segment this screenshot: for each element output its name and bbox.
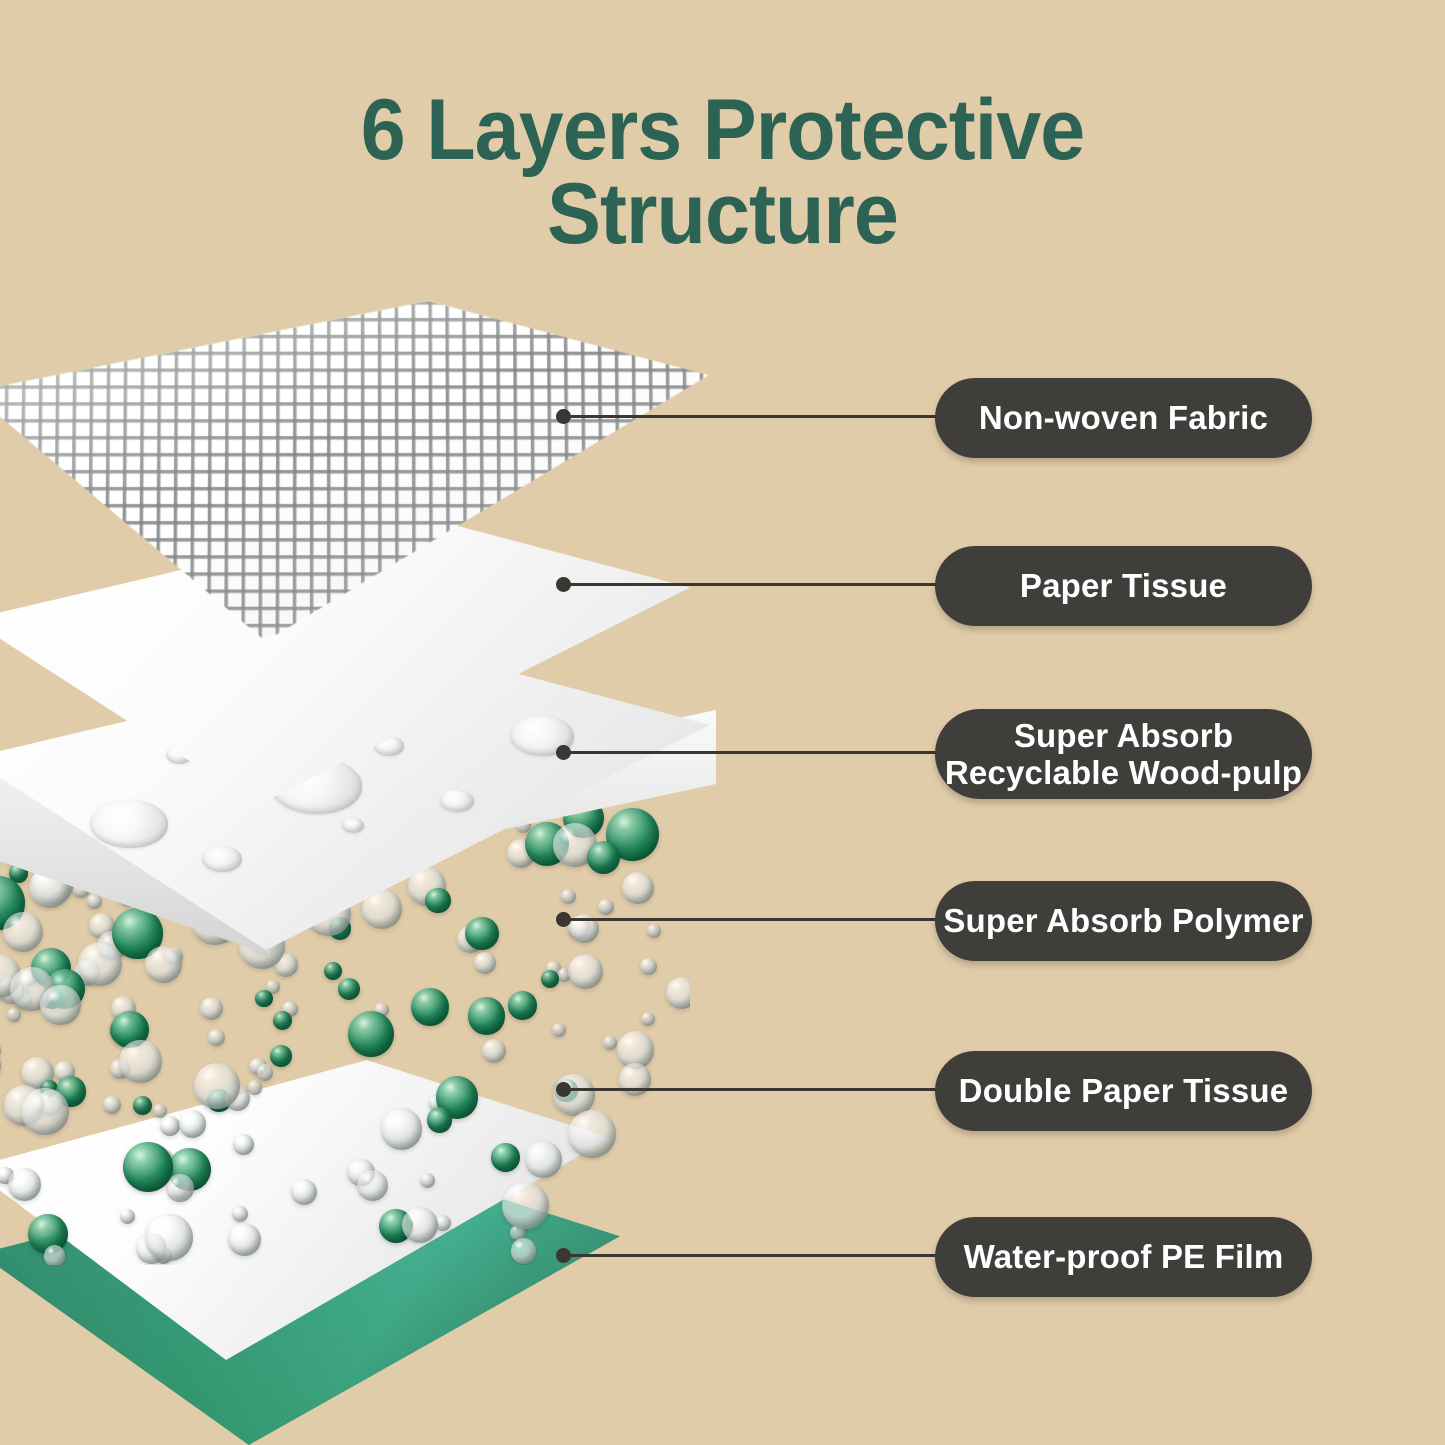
page-title-line-2: Structure: [43, 172, 1401, 256]
polymer-bead-clear: [561, 889, 576, 904]
leader-dot-super-absorb-polymer: [556, 912, 571, 927]
polymer-bead-green: [508, 991, 536, 1019]
polymer-bead-green: [491, 1143, 520, 1172]
polymer-bead-clear: [3, 912, 43, 952]
polymer-bead-green: [324, 962, 342, 980]
callout-label-super-absorb-recyclable-wood-pulp[interactable]: Super AbsorbRecyclable Wood-pulp: [935, 709, 1312, 799]
leader-line-super-absorb-polymer: [569, 918, 949, 921]
callout-label-text: Recyclable Wood-pulp: [945, 754, 1302, 791]
polymer-bead-green: [270, 1045, 292, 1067]
polymer-bead-clear: [153, 1104, 167, 1118]
polymer-bead-green: [338, 978, 360, 1000]
polymer-bead-green: [255, 990, 273, 1008]
polymer-bead-clear: [0, 1042, 1, 1059]
polymer-bead-clear: [357, 1170, 388, 1201]
polymer-bead-clear: [482, 1039, 506, 1063]
page-title: 6 Layers Protective Structure: [43, 88, 1401, 257]
polymer-bead-clear: [622, 872, 654, 904]
polymer-bead-clear: [291, 1179, 317, 1205]
polymer-bead-green: [541, 970, 559, 988]
polymer-bead-clear: [40, 985, 81, 1026]
polymer-bead-green: [411, 988, 449, 1026]
polymer-bead-clear: [603, 1036, 617, 1050]
polymer-bead-clear: [233, 1134, 254, 1155]
water-droplet: [342, 818, 364, 833]
polymer-bead-green: [348, 1011, 394, 1057]
callout-label-super-absorb-polymer[interactable]: Super Absorb Polymer: [935, 881, 1312, 961]
polymer-bead-clear: [194, 1063, 240, 1109]
callout-label-text: Non-woven Fabric: [979, 399, 1268, 436]
polymer-bead-clear: [511, 1238, 537, 1264]
callout-label-water-proof-pe-film[interactable]: Water-proof PE Film: [935, 1217, 1312, 1297]
polymer-bead-clear: [145, 1214, 193, 1262]
polymer-bead-clear: [21, 1088, 68, 1135]
polymer-bead-clear: [228, 1223, 261, 1256]
polymer-bead-clear: [474, 952, 496, 974]
polymer-bead-clear: [200, 997, 223, 1020]
polymer-bead-green: [273, 1011, 292, 1030]
leader-dot-paper-tissue: [556, 577, 571, 592]
polymer-bead-clear: [87, 894, 102, 909]
polymer-bead-green: [133, 1096, 152, 1115]
polymer-bead-clear: [381, 1108, 422, 1149]
polymer-bead-clear: [103, 1096, 121, 1114]
callout-label-text: Water-proof PE Film: [964, 1238, 1284, 1275]
polymer-bead-clear: [640, 958, 657, 975]
polymer-bead-clear: [568, 1110, 616, 1158]
polymer-bead-clear: [647, 924, 661, 938]
polymer-bead-clear: [420, 1173, 435, 1188]
water-droplet: [202, 846, 242, 872]
polymer-bead-clear: [502, 1182, 549, 1229]
polymer-bead-clear: [598, 899, 615, 916]
polymer-bead-clear: [568, 954, 603, 989]
polymer-bead-clear: [145, 946, 182, 983]
polymer-bead-green: [587, 841, 621, 875]
polymer-bead-green: [465, 917, 499, 951]
polymer-bead-clear: [7, 1008, 21, 1022]
leader-line-non-woven-fabric: [569, 415, 949, 418]
polymer-bead-clear: [666, 977, 690, 1008]
callout-label-paper-tissue[interactable]: Paper Tissue: [935, 546, 1312, 626]
layer-stack-illustration: [0, 300, 800, 1445]
polymer-bead-clear: [160, 1116, 180, 1136]
polymer-bead-clear: [78, 942, 122, 986]
water-droplet: [440, 790, 474, 812]
leader-line-water-proof-pe-film: [569, 1254, 949, 1257]
polymer-bead-green: [468, 997, 506, 1035]
polymer-bead-clear: [119, 1040, 161, 1082]
polymer-bead-clear: [8, 1168, 41, 1201]
callout-label-double-paper-tissue[interactable]: Double Paper Tissue: [935, 1051, 1312, 1131]
callout-label-text: Super Absorb: [945, 717, 1302, 754]
polymer-bead-clear: [120, 1209, 135, 1224]
polymer-bead-clear: [641, 1012, 655, 1026]
polymer-bead-clear: [179, 1110, 206, 1137]
leader-dot-non-woven-fabric: [556, 409, 571, 424]
leader-line-paper-tissue: [569, 583, 949, 586]
leader-dot-super-absorb-recyclable-wood-pulp: [556, 745, 571, 760]
polymer-bead-clear: [248, 1080, 263, 1095]
polymer-bead-clear: [552, 1023, 566, 1037]
leader-line-double-paper-tissue: [569, 1088, 949, 1091]
callout-label-text: Double Paper Tissue: [959, 1072, 1289, 1109]
leader-dot-water-proof-pe-film: [556, 1248, 571, 1263]
polymer-bead-clear: [208, 1029, 226, 1047]
callout-label-text: Super Absorb Polymer: [943, 902, 1303, 939]
leader-line-super-absorb-recyclable-wood-pulp: [569, 751, 949, 754]
polymer-bead-clear: [402, 1207, 438, 1243]
polymer-bead-green: [123, 1142, 174, 1193]
page-title-line-1: 6 Layers Protective: [43, 88, 1401, 172]
polymer-bead-clear: [232, 1206, 248, 1222]
polymer-bead-clear: [44, 1245, 65, 1265]
polymer-bead-clear: [257, 1064, 273, 1080]
callout-label-text: Paper Tissue: [1020, 567, 1227, 604]
product-infographic: 6 Layers Protective Structure Non-woven …: [0, 0, 1445, 1445]
leader-dot-double-paper-tissue: [556, 1082, 571, 1097]
polymer-bead-green: [425, 888, 451, 914]
water-droplet: [90, 800, 168, 848]
callout-label-non-woven-fabric[interactable]: Non-woven Fabric: [935, 378, 1312, 458]
polymer-bead-green: [427, 1107, 453, 1133]
polymer-bead-clear: [525, 1141, 562, 1178]
